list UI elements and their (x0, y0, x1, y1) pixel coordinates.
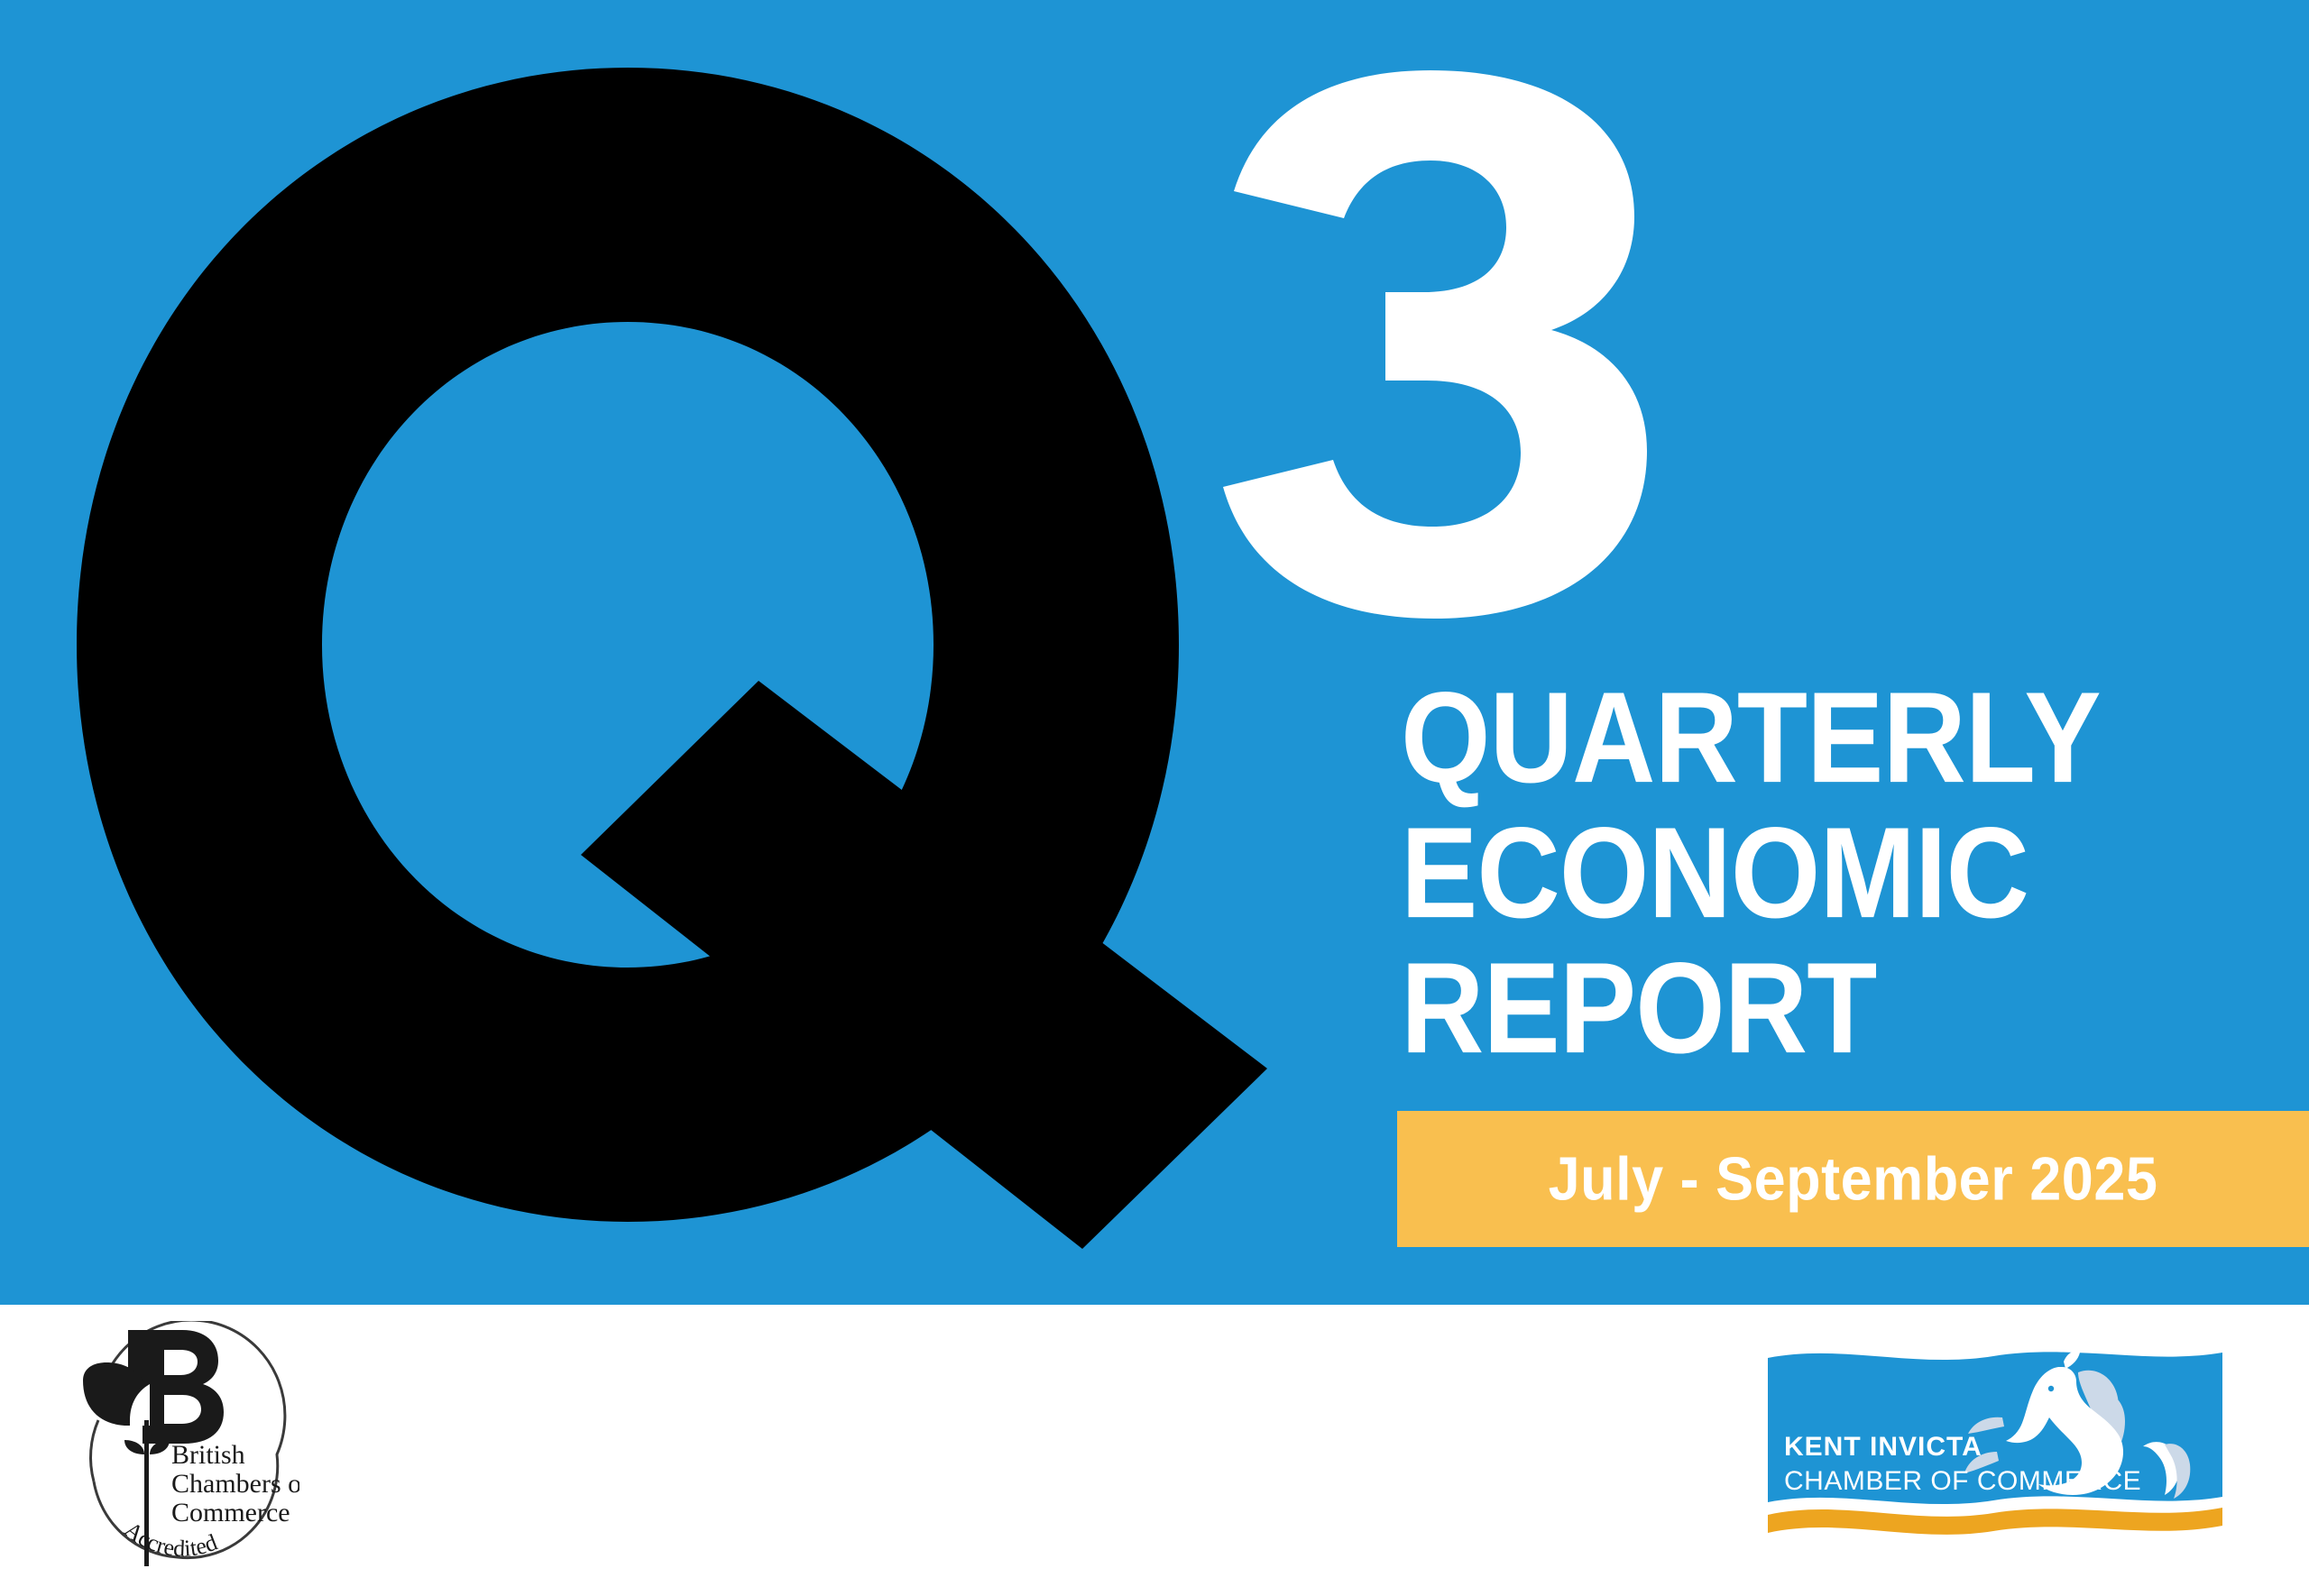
bcc-line-2: Chambers of (171, 1469, 299, 1499)
cover-hero-banner: QUARTERLY ECONOMIC REPORT July - Septemb… (0, 0, 2309, 1305)
kent-gold-swoosh (1768, 1508, 2222, 1535)
kent-logo-line-2: CHAMBER OF COMMERCE (1784, 1466, 2141, 1496)
kent-logo-line-1: KENT INVICTA (1784, 1432, 1982, 1462)
quarter-letter-q-icon (54, 50, 1281, 1258)
title-line-2: ECONOMIC (1401, 798, 2303, 949)
british-chambers-of-commerce-logo: British Chambers of Commerce Accredited (56, 1321, 299, 1582)
bcc-line-1: British (171, 1440, 245, 1470)
date-range-banner: July - September 2025 (1397, 1111, 2309, 1247)
footer-logo-bar: British Chambers of Commerce Accredited (0, 1305, 2309, 1596)
date-range-label: July - September 2025 (1549, 1144, 2158, 1215)
kent-invicta-chamber-of-commerce-logo: KENT INVICTA CHAMBER OF COMMERCE (1761, 1338, 2230, 1546)
title-line-1: QUARTERLY (1401, 663, 2303, 814)
cover-title-block: QUARTERLY ECONOMIC REPORT (1401, 663, 2303, 1069)
bcc-line-3: Commerce (171, 1498, 290, 1527)
title-line-3: REPORT (1401, 933, 2303, 1085)
quarter-number-three-icon (1200, 54, 1669, 631)
